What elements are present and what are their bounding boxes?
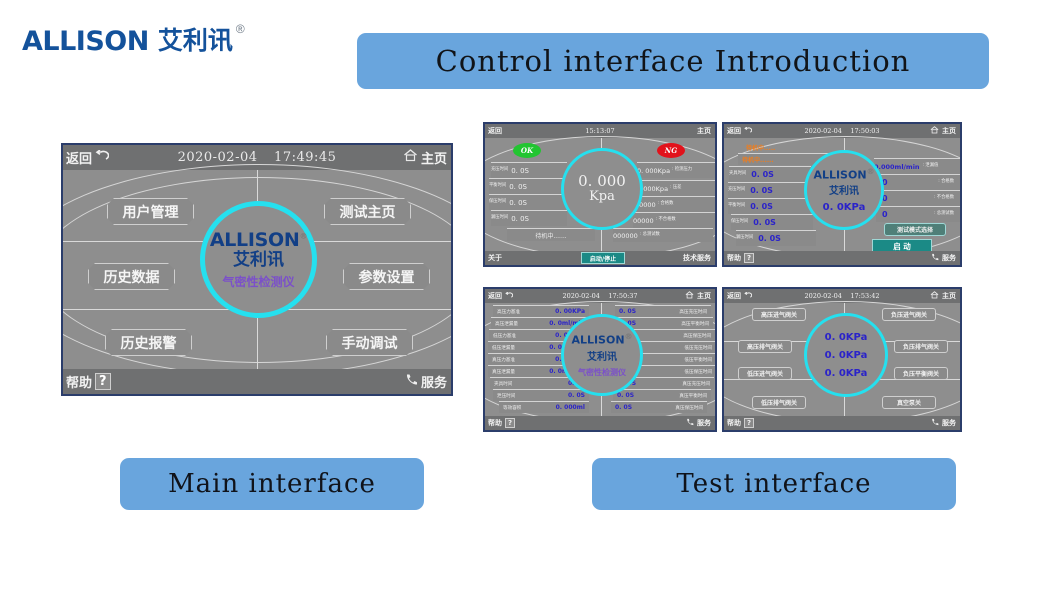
row-value: 0. 000Kpa bbox=[637, 167, 670, 175]
main-bottombar: 帮助 ? 服务 bbox=[63, 369, 451, 394]
tp1-home-button[interactable]: 主页 bbox=[697, 126, 711, 136]
tp1-status-row: 待机中....... bbox=[507, 228, 595, 241]
tp3-time: 17:50:37 bbox=[608, 292, 637, 300]
row-value: 0. 0S bbox=[511, 167, 529, 175]
tp1-row-left: 充压时间 0. 0S bbox=[491, 162, 567, 178]
tp3-home-button[interactable]: 主页 bbox=[685, 291, 711, 301]
phone-icon[interactable] bbox=[931, 418, 939, 428]
menu-button-history-data[interactable]: 历史数据 bbox=[88, 263, 175, 290]
tp2-center-ring: ALLISON® 艾利讯 0. 0KPa bbox=[804, 150, 884, 230]
home-label: 主页 bbox=[697, 291, 711, 301]
help-label: 帮助 bbox=[488, 418, 502, 428]
row-label: : 总测试数 bbox=[640, 233, 660, 238]
row-value: 0. 0S bbox=[750, 186, 773, 195]
row-label: 漏压时间 bbox=[491, 216, 508, 221]
tp1-about-button[interactable]: 关于 bbox=[488, 253, 502, 263]
tp4-datetime: 2020-02-04 17:53:42 bbox=[724, 292, 960, 300]
center-pressure-value: 0. 0KPa bbox=[823, 202, 866, 213]
status-text: 待机中..... bbox=[746, 143, 775, 152]
menu-button-label: 测试主页 bbox=[340, 202, 396, 222]
help-label: 帮助 bbox=[727, 253, 741, 263]
tp1-row-right: 000000 : 总测试数 bbox=[613, 228, 713, 242]
brand-name-en: ALLISON bbox=[22, 28, 149, 55]
row-value: 0. 0S bbox=[753, 218, 776, 227]
row-label: : 合格数 bbox=[938, 180, 954, 185]
tp2-row-right: 0 : 合格数 bbox=[876, 174, 960, 190]
row-value: 0. 000ml bbox=[556, 404, 585, 411]
center-subtitle: 气密性检测仪 bbox=[210, 276, 307, 289]
tp2-row-right: 0.000ml/min : 泄漏值 bbox=[874, 158, 960, 174]
phone-icon[interactable] bbox=[686, 418, 694, 428]
row-value: 00000 bbox=[633, 217, 654, 225]
center-brand-en-text: ALLISON bbox=[210, 229, 300, 251]
phone-icon[interactable] bbox=[405, 373, 418, 390]
home-icon[interactable] bbox=[930, 126, 939, 136]
tp2-bottombar: 帮助 ? 服务 bbox=[724, 251, 960, 265]
tp2-datetime: 2020-02-04 17:50:03 bbox=[724, 127, 960, 135]
tp1-row-right: 00000 : 合格数 bbox=[635, 196, 717, 212]
row-label: 真压泄漏量 bbox=[492, 369, 515, 375]
valve-label: 真空泵关 bbox=[897, 398, 921, 407]
question-mark-icon[interactable]: ? bbox=[744, 253, 754, 263]
row-label: : 不合格数 bbox=[656, 218, 676, 223]
caption-main-interface: Main interface bbox=[120, 458, 424, 510]
pressure-value-2: 0. 0KPa bbox=[825, 350, 868, 361]
tp4-date: 2020-02-04 bbox=[804, 292, 841, 300]
tp3-help-button[interactable]: 帮助 ? bbox=[488, 418, 515, 428]
tp4-service-button[interactable]: 服务 bbox=[931, 418, 956, 428]
valve-label: 低压排气阀关 bbox=[761, 398, 797, 407]
row-label: : 泄漏值 bbox=[923, 164, 939, 169]
tp1-start-stop-button[interactable]: 启动/停止 bbox=[581, 252, 625, 264]
tp1-gauge-ring: 0. 000 Kpa bbox=[561, 148, 643, 230]
tp3-bottombar: 帮助 ? 服务 bbox=[485, 416, 715, 430]
tp2-date: 2020-02-04 bbox=[804, 127, 841, 135]
row-value: 0. 00KPa bbox=[555, 308, 585, 315]
row-label: 高压保压时间 bbox=[683, 333, 711, 339]
tp1-row-left: 漏压时间 0. 0S bbox=[491, 210, 567, 226]
tp2-row-left: 充压时间 0. 0S bbox=[728, 182, 811, 198]
tp2-row-left: 保压时间 0. 0S bbox=[731, 214, 813, 230]
mode-select-label: 测试模式选择 bbox=[897, 225, 933, 234]
status-badge-ng: NG bbox=[657, 143, 685, 158]
center-brand-cn: 艾利讯 bbox=[829, 182, 859, 197]
status-badge-ok: OK bbox=[513, 143, 541, 158]
center-brand-en-text: ALLISON bbox=[813, 169, 866, 182]
caption-test-interface: Test interface bbox=[592, 458, 956, 510]
status-text: 待机中...... bbox=[742, 155, 774, 164]
service-label: 服务 bbox=[942, 418, 956, 428]
valve-button-hp-exhaust[interactable]: 高压排气阀关 bbox=[738, 340, 792, 353]
row-label: 高压平衡时间 bbox=[681, 321, 709, 327]
menu-button-history-alarm[interactable]: 历史报警 bbox=[105, 329, 192, 356]
pressure-value-1: 0. 0KPa bbox=[825, 332, 868, 343]
valve-label: 低压进气阀关 bbox=[747, 369, 783, 378]
row-value: 0. 0S bbox=[511, 215, 529, 223]
main-date: 2020-02-04 bbox=[178, 150, 258, 165]
row-label: : 合格数 bbox=[658, 202, 674, 207]
menu-button-label: 历史报警 bbox=[121, 333, 177, 353]
main-home-button[interactable]: 主页 bbox=[403, 148, 447, 167]
ng-label: NG bbox=[665, 146, 677, 155]
row-label: 夹具时间 bbox=[729, 172, 746, 177]
registered-icon: ® bbox=[299, 232, 307, 241]
start-label: 启 动 bbox=[893, 241, 911, 252]
valve-button-lp-intake[interactable]: 低压进气阀关 bbox=[738, 367, 792, 380]
pressure-value-3: 0. 0KPa bbox=[825, 368, 868, 379]
row-value: 0. 0S bbox=[509, 199, 527, 207]
row-label: : 不合格数 bbox=[934, 196, 954, 201]
tp3-row-left: 高压力基准 0. 00KPa bbox=[493, 305, 589, 317]
home-icon[interactable] bbox=[930, 291, 939, 301]
row-label: 漏压时间 bbox=[736, 236, 753, 241]
row-label: 低压充压时间 bbox=[684, 345, 712, 351]
row-label: 低压泄漏量 bbox=[492, 345, 515, 351]
main-center-ring: ALLISON® 艾利讯 气密性检测仪 bbox=[200, 201, 317, 318]
question-mark-icon[interactable]: ? bbox=[95, 373, 111, 390]
row-value: 0. 0S bbox=[758, 234, 781, 243]
row-value: 0. 0S bbox=[568, 392, 585, 399]
tp1-time: 15:13:07 bbox=[585, 127, 614, 135]
row-value: 0. 0S bbox=[615, 404, 632, 411]
phone-icon[interactable] bbox=[931, 253, 939, 263]
gauge-unit: Kpa bbox=[589, 189, 615, 204]
valve-button-lp-exhaust[interactable]: 低压排气阀关 bbox=[752, 396, 806, 409]
row-label: 充压时间 bbox=[728, 188, 745, 193]
main-center-logo: ALLISON® 艾利讯 气密性检测仪 bbox=[210, 230, 307, 289]
valve-button-np-intake[interactable]: 负压进气阀关 bbox=[882, 308, 936, 321]
main-help-button[interactable]: 帮助 ? bbox=[66, 372, 111, 391]
registered-icon: ® bbox=[625, 332, 633, 341]
row-label: 真压充压时间 bbox=[682, 381, 710, 387]
row-value: 000000 bbox=[613, 232, 638, 240]
home-icon[interactable] bbox=[403, 149, 418, 166]
tp2-status-row-1: 待机中..... bbox=[742, 141, 828, 153]
help-label: 帮助 bbox=[66, 372, 92, 391]
row-value: 0. 0S bbox=[750, 202, 773, 211]
tp3-row-left: 等效容积 0. 000ml bbox=[499, 401, 589, 413]
menu-button-test-home[interactable]: 测试主页 bbox=[324, 198, 411, 225]
menu-button-label: 用户管理 bbox=[123, 202, 179, 222]
row-value: 0.000ml/min bbox=[874, 163, 920, 171]
main-service-button[interactable]: 服务 bbox=[405, 372, 447, 391]
home-label: 主页 bbox=[942, 291, 956, 301]
valve-label: 负压平衡阀关 bbox=[903, 369, 939, 378]
tp3-row-right: 0. 0S 真压保压时间 bbox=[611, 401, 707, 413]
home-icon[interactable] bbox=[685, 291, 694, 301]
valve-label: 负压进气阀关 bbox=[891, 310, 927, 319]
main-datetime: 2020-02-04 17:49:45 bbox=[63, 150, 451, 165]
valve-label: 负压排气阀关 bbox=[903, 342, 939, 351]
test-panel-2-screen: 返回 2020-02-04 17:50:03 主页 待机中..... 待机中..… bbox=[722, 122, 962, 267]
row-label: 真压平衡时间 bbox=[679, 393, 707, 399]
valve-button-vacuum-pump[interactable]: 真空泵关 bbox=[882, 396, 936, 409]
service-label: 服务 bbox=[942, 253, 956, 263]
caption-label: Main interface bbox=[168, 469, 376, 499]
tp2-row-left: 漏压时间 0. 0S bbox=[736, 230, 816, 246]
menu-button-label: 参数设置 bbox=[359, 267, 415, 287]
tp2-time: 17:50:03 bbox=[850, 127, 879, 135]
tp1-row-left: 保压时间 0. 0S bbox=[489, 194, 567, 210]
tp4-center-ring: 0. 0KPa 0. 0KPa 0. 0KPa bbox=[804, 313, 888, 397]
row-label: 泄压时间 bbox=[497, 393, 515, 399]
service-label: 服务 bbox=[421, 372, 447, 391]
registered-icon: ® bbox=[236, 22, 245, 36]
home-label: 主页 bbox=[421, 148, 447, 167]
row-label: 真压保压时间 bbox=[675, 405, 703, 411]
tp1-row-right: 00000 : 不合格数 bbox=[633, 212, 717, 228]
valve-label: 高压排气阀关 bbox=[747, 342, 783, 351]
row-label: 低压平衡时间 bbox=[684, 357, 712, 363]
row-label: 真压力基准 bbox=[492, 357, 515, 363]
tp2-row-left: 夹具时间 0. 0S bbox=[729, 166, 811, 182]
tp2-mode-select-button[interactable]: 测试模式选择 bbox=[884, 223, 946, 236]
row-label: 高压泄漏量 bbox=[495, 321, 518, 327]
test-panel-3-screen: 返回 2020-02-04 17:50:37 主页 高压力基准 0. 00KPa… bbox=[483, 287, 717, 432]
row-label: 低压力基准 bbox=[493, 333, 516, 339]
tp2-row-right: 0 : 总测试数 bbox=[876, 206, 960, 222]
test-panel-1-screen: 返回 15:13:07 主页 OK NG 充压时间 0. 0S 平衡时间 0. … bbox=[483, 122, 717, 267]
brand-logo: ALLISON 艾利讯 ® bbox=[22, 28, 245, 55]
row-label: : 检测压力 bbox=[672, 168, 692, 173]
tech-service-label: 技术服务 bbox=[683, 253, 711, 263]
row-label: : 压差 bbox=[670, 186, 681, 191]
main-time: 17:49:45 bbox=[274, 150, 336, 165]
center-brand-cn: 艾利讯 bbox=[587, 348, 617, 363]
menu-button-manual-debug[interactable]: 手动调试 bbox=[326, 329, 413, 356]
row-label: 平衡时间 bbox=[489, 184, 506, 189]
valve-button-np-balance[interactable]: 负压平衡阀关 bbox=[894, 367, 948, 380]
row-label: 低压保压时间 bbox=[684, 369, 712, 375]
row-value: 0. 0S bbox=[751, 170, 774, 179]
registered-icon: ® bbox=[867, 167, 875, 176]
tp2-help-button[interactable]: 帮助 ? bbox=[727, 253, 754, 263]
home-label: 主页 bbox=[697, 126, 711, 136]
tp3-datetime: 2020-02-04 17:50:37 bbox=[485, 292, 715, 300]
service-label: 服务 bbox=[697, 418, 711, 428]
menu-button-label: 历史数据 bbox=[104, 267, 160, 287]
brand-name-cn: 艾利讯 bbox=[158, 28, 233, 53]
row-label: : 总测试数 bbox=[934, 212, 954, 217]
tp3-row-right: 0. 0S 高压充压时间 bbox=[615, 305, 711, 317]
row-value: 0 bbox=[882, 210, 888, 219]
tp3-date: 2020-02-04 bbox=[562, 292, 599, 300]
center-brand-en: ALLISON® bbox=[571, 332, 632, 347]
about-label: 关于 bbox=[488, 253, 502, 263]
row-label: 夹具时间 bbox=[494, 381, 512, 387]
tp2-home-button[interactable]: 主页 bbox=[930, 126, 956, 136]
question-mark-icon[interactable]: ? bbox=[744, 418, 754, 428]
caption-label: Test interface bbox=[676, 469, 871, 499]
row-value: 0. 0S bbox=[619, 308, 636, 315]
menu-button-label: 手动调试 bbox=[342, 333, 398, 353]
gauge-value: 0. 000 bbox=[578, 174, 626, 190]
ok-label: OK bbox=[521, 146, 533, 155]
row-label: 等效容积 bbox=[503, 405, 521, 411]
tp4-help-button[interactable]: 帮助 ? bbox=[727, 418, 754, 428]
row-value: 0. 0S bbox=[617, 392, 634, 399]
row-label: 高压力基准 bbox=[497, 309, 520, 315]
status-text: 待机中....... bbox=[535, 231, 566, 240]
tp4-bottombar: 帮助 ? 服务 bbox=[724, 416, 960, 430]
row-label: 保压时间 bbox=[489, 200, 506, 205]
test-panel-4-screen: 返回 2020-02-04 17:53:42 主页 高压进气阀关 高压排气阀关 … bbox=[722, 287, 962, 432]
tp3-center-ring: ALLISON® 艾利讯 气密性检测仪 bbox=[561, 314, 643, 396]
center-brand-en: ALLISON® bbox=[813, 167, 874, 182]
main-interface-screen: 返回 2020-02-04 17:49:45 主页 ALLISON® 艾利讯 气… bbox=[61, 143, 453, 396]
center-brand-cn: 艾利讯 bbox=[210, 251, 307, 269]
tp1-row-left: 平衡时间 0. 0S bbox=[489, 178, 567, 194]
center-brand-en: ALLISON® bbox=[210, 230, 307, 251]
menu-button-user-management[interactable]: 用户管理 bbox=[107, 198, 194, 225]
tp1-time-field: 15:13:07 bbox=[485, 127, 715, 135]
tp1-row-right: 0. 000Kpa : 检测压力 bbox=[637, 162, 717, 178]
page-title: Control interface Introduction bbox=[436, 44, 911, 78]
tp2-row-right: 0 : 不合格数 bbox=[876, 190, 960, 206]
help-label: 帮助 bbox=[727, 418, 741, 428]
center-subtitle: 气密性检测仪 bbox=[578, 367, 626, 378]
tp1-row-right: 0. 000Kpa : 压差 bbox=[635, 180, 717, 196]
slide-title-banner: Control interface Introduction bbox=[357, 33, 989, 89]
row-label: 充压时间 bbox=[491, 168, 508, 173]
valve-button-hp-intake[interactable]: 高压进气阀关 bbox=[752, 308, 806, 321]
valve-button-np-exhaust[interactable]: 负压排气阀关 bbox=[894, 340, 948, 353]
start-stop-label: 启动/停止 bbox=[590, 254, 616, 263]
tp3-row-right: 0. 0S 真压平衡时间 bbox=[613, 389, 711, 401]
question-mark-icon[interactable]: ? bbox=[505, 418, 515, 428]
tp3-row-left: 泄压时间 0. 0S bbox=[493, 389, 589, 401]
valve-label: 高压进气阀关 bbox=[761, 310, 797, 319]
row-label: 高压充压时间 bbox=[679, 309, 707, 315]
menu-button-parameter-settings[interactable]: 参数设置 bbox=[343, 263, 430, 290]
home-label: 主页 bbox=[942, 126, 956, 136]
tp2-service-button[interactable]: 服务 bbox=[931, 253, 956, 263]
tp3-service-button[interactable]: 服务 bbox=[686, 418, 711, 428]
row-label: 平衡时间 bbox=[728, 204, 745, 209]
row-label: 保压时间 bbox=[731, 220, 748, 225]
tp1-tech-service-button[interactable]: 技术服务 bbox=[683, 253, 711, 263]
tp2-row-left: 平衡时间 0. 0S bbox=[728, 198, 811, 214]
tp4-home-button[interactable]: 主页 bbox=[930, 291, 956, 301]
row-value: 0. 0S bbox=[509, 183, 527, 191]
center-brand-en-text: ALLISON bbox=[571, 334, 624, 347]
tp4-time: 17:53:42 bbox=[850, 292, 879, 300]
